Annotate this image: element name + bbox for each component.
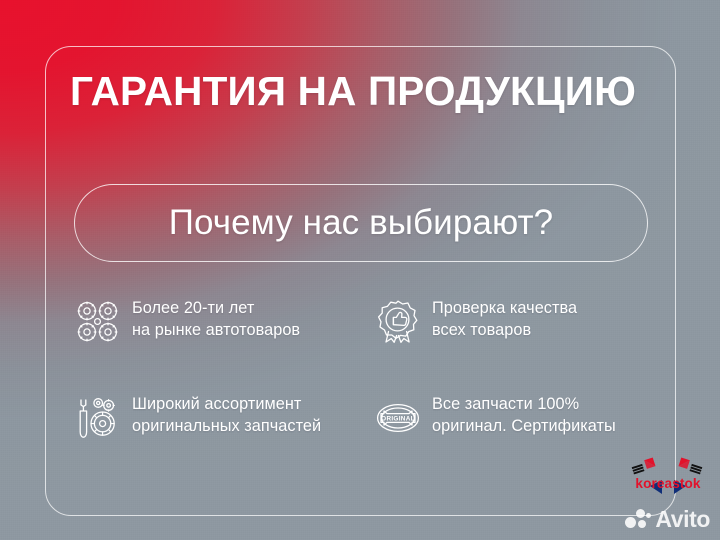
subtitle-pill: Почему нас выбирают?	[74, 184, 648, 262]
subtitle-text: Почему нас выбирают?	[169, 203, 554, 243]
avito-dots-icon	[625, 508, 651, 530]
quality-badge-thumbs-up-icon	[374, 298, 422, 346]
feature-item-assortment: Широкий ассортимент оригинальных запчаст…	[74, 392, 374, 488]
poster-canvas: ГАРАНТИЯ НА ПРОДУКЦИЮ Почему нас выбираю…	[0, 0, 720, 540]
original-stamp-icon: ORIGINAL	[374, 394, 422, 442]
page-title: ГАРАНТИЯ НА ПРОДУКЦИЮ	[70, 70, 670, 113]
feature-label: Все запчасти 100% оригинал. Сертификаты	[432, 392, 616, 437]
avito-watermark: Avito	[625, 504, 710, 534]
avito-wordmark: Avito	[655, 508, 710, 531]
feature-label: Широкий ассортимент оригинальных запчаст…	[132, 392, 321, 437]
svg-text:ORIGINAL: ORIGINAL	[381, 415, 415, 422]
feature-grid: Более 20-ти лет на рынке автотоваров Про…	[74, 296, 654, 488]
feature-label: Проверка качества всех товаров	[432, 296, 577, 341]
feature-item-experience: Более 20-ти лет на рынке автотоваров	[74, 296, 374, 392]
gears-icon	[74, 298, 122, 346]
wrench-parts-icon	[74, 394, 122, 442]
feature-item-quality: Проверка качества всех товаров	[374, 296, 654, 392]
brand-logo: koreastok	[622, 450, 714, 498]
brand-name: koreastok	[622, 476, 714, 491]
feature-label: Более 20-ти лет на рынке автотоваров	[132, 296, 300, 341]
feature-item-original: ORIGINAL Все запчасти 100% оригинал. Сер…	[374, 392, 654, 488]
